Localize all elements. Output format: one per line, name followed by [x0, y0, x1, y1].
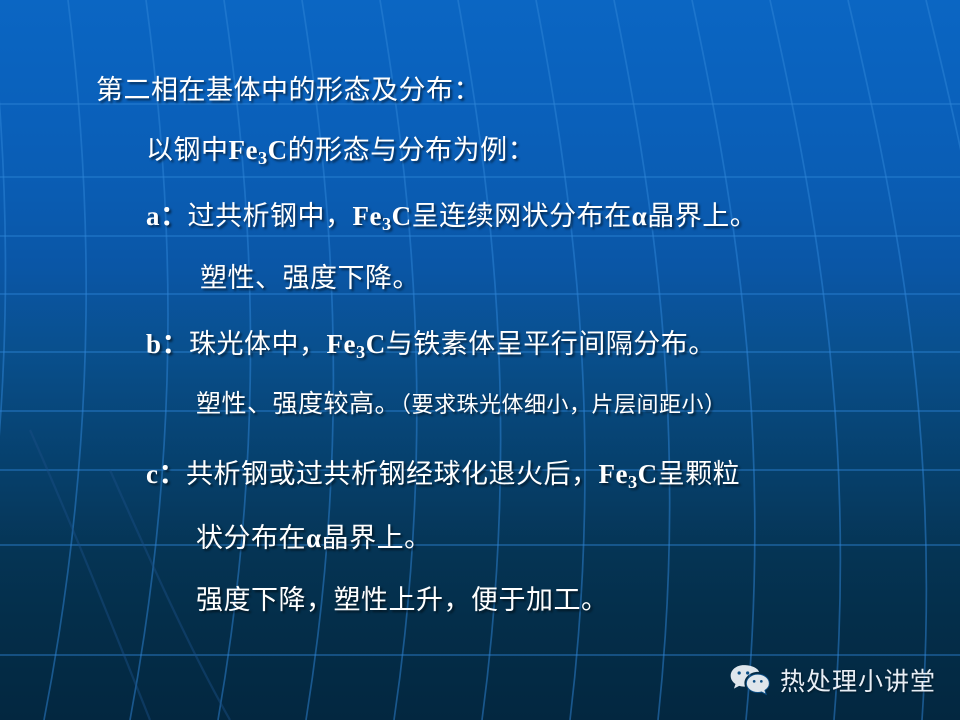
formula-fe3c-c: Fe3C — [598, 459, 657, 489]
formula-tail: C — [638, 459, 658, 489]
bullet-c-line-1: c：共析钢或过共析钢经球化退火后，Fe3C呈颗粒 — [146, 452, 740, 493]
formula-tail: C — [392, 201, 412, 231]
bullet-b-line-2-main: 塑性、强度较高。 — [196, 389, 400, 418]
wechat-icon — [730, 664, 770, 696]
bullet-b-tag: b： — [146, 329, 189, 359]
formula-subscript: 3 — [628, 472, 638, 492]
formula-tail: C — [268, 135, 288, 165]
bullet-a-line-2: 塑性、强度下降。 — [200, 256, 420, 295]
subtitle-suffix: 的形态与分布为例： — [288, 135, 536, 166]
formula-subscript: 3 — [356, 342, 366, 362]
bullet-c-text-pre: 共析钢或过共析钢经球化退火后， — [186, 459, 599, 490]
bullet-c-line-2-pre: 状分布在 — [196, 523, 306, 554]
slide-canvas: 第二相在基体中的形态及分布： 以钢中Fe3C的形态与分布为例： a：过共析钢中，… — [0, 0, 960, 720]
formula-fe3c-b: Fe3C — [327, 329, 386, 359]
bullet-c-line-2: 状分布在α晶界上。 — [196, 516, 432, 555]
formula-main: Fe — [598, 459, 627, 489]
page-title: 第二相在基体中的形态及分布： — [96, 68, 481, 107]
formula-tail: C — [366, 329, 386, 359]
greek-alpha-a: α — [632, 201, 648, 231]
bullet-a-line-1: a：过共析钢中，Fe3C呈连续网状分布在α晶界上。 — [146, 194, 757, 235]
bullet-b-line-1: b：珠光体中，Fe3C与铁素体呈平行间隔分布。 — [146, 322, 716, 363]
formula-main: Fe — [229, 135, 258, 165]
formula-subscript: 3 — [258, 148, 268, 168]
watermark-text: 热处理小讲堂 — [780, 662, 936, 698]
greek-alpha-c: α — [306, 523, 322, 553]
bullet-c-tag: c： — [146, 459, 186, 489]
bullet-b-line-2-note: （要求珠光体细小，片层间距小） — [400, 393, 727, 418]
formula-subscript: 3 — [382, 214, 392, 234]
bullet-b-text-pre: 珠光体中， — [189, 329, 327, 360]
bullet-c-line-3: 强度下降，塑性上升，便于加工。 — [196, 578, 609, 617]
bullet-b-line-2: 塑性、强度较高。（要求珠光体细小，片层间距小） — [196, 384, 727, 420]
bullet-a-tag: a： — [146, 201, 188, 231]
bullet-b-text-mid: 与铁素体呈平行间隔分布。 — [386, 329, 716, 360]
slide-content: 第二相在基体中的形态及分布： 以钢中Fe3C的形态与分布为例： a：过共析钢中，… — [0, 0, 960, 720]
bullet-a-text-mid: 呈连续网状分布在 — [412, 201, 632, 232]
subtitle-line: 以钢中Fe3C的形态与分布为例： — [146, 128, 535, 169]
bullet-a-text-pre: 过共析钢中， — [188, 201, 353, 232]
formula-fe3c-a: Fe3C — [353, 201, 412, 231]
formula-main: Fe — [327, 329, 356, 359]
bullet-c-line-2-post: 晶界上。 — [322, 523, 432, 554]
watermark: 热处理小讲堂 — [730, 662, 936, 698]
formula-main: Fe — [353, 201, 382, 231]
bullet-c-text-mid: 呈颗粒 — [658, 459, 741, 490]
formula-fe3c-subtitle: Fe3C — [229, 135, 288, 165]
subtitle-prefix: 以钢中 — [146, 135, 229, 166]
bullet-a-text-post: 晶界上。 — [647, 201, 757, 232]
